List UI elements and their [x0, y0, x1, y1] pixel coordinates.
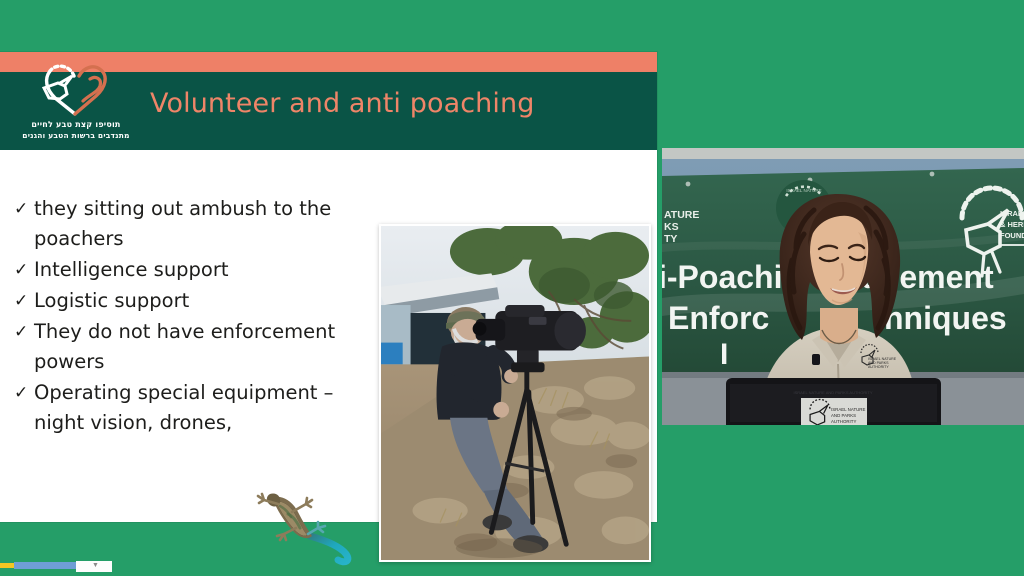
gecko-illustration [248, 490, 376, 570]
bullet-text: they sitting out ambush to the poachers [34, 194, 362, 254]
thumbnail-blue-band [14, 562, 76, 569]
slide-title: Volunteer and anti poaching [150, 88, 534, 119]
svg-text:AND PARKS: AND PARKS [831, 413, 856, 418]
svg-text:Enforc: Enforc [668, 300, 769, 336]
heart-ibex-logo-icon [34, 58, 120, 120]
chevron-down-icon[interactable]: ▼ [92, 562, 99, 569]
svg-text:ISRAEL NATURE: ISRAEL NATURE [831, 407, 865, 412]
bullet-item: ✓ they sitting out ambush to the poacher… [14, 194, 362, 254]
bullet-item: ✓ Operating special equipment – night vi… [14, 378, 362, 438]
checkmark-icon: ✓ [14, 286, 34, 316]
slide-bullet-list: ✓ they sitting out ambush to the poacher… [14, 194, 362, 439]
logo-hebrew-tagline-primary: תוסיפו קצת טבע לחיים [12, 120, 140, 129]
svg-text:i-Poachi: i-Poachi [662, 259, 782, 295]
svg-text:FOUNDATIO: FOUNDATIO [1000, 231, 1024, 240]
svg-text:KS: KS [664, 221, 679, 233]
checkmark-icon: ✓ [14, 255, 34, 285]
svg-text:ISRAEL NATU: ISRAEL NATU [1000, 209, 1024, 218]
bullet-text: They do not have enforcement powers [34, 317, 362, 377]
svg-text:hniques: hniques [884, 300, 1007, 336]
slide-panel: תוסיפו קצת טבע לחיים מתנדבים ברשות הטבע … [0, 52, 657, 522]
svg-text:ISRAEL NATURE AND PARKS AUTHOR: ISRAEL NATURE AND PARKS AUTHORITY [793, 390, 872, 395]
organization-logo: תוסיפו קצת טבע לחיים מתנדבים ברשות הטבע … [12, 58, 140, 148]
bullet-item: ✓ Logistic support [14, 286, 362, 316]
bullet-item: ✓ They do not have enforcement powers [14, 317, 362, 377]
logo-hebrew-tagline-secondary: מתנדבים ברשות הטבע והגנים [12, 131, 140, 140]
svg-text:ISRAEL NATURE: ISRAEL NATURE [786, 188, 821, 193]
volunteer-observation-photo [379, 224, 651, 562]
checkmark-icon: ✓ [14, 317, 34, 347]
svg-text:AUTHORITY: AUTHORITY [868, 365, 889, 369]
bullet-item: ✓ Intelligence support [14, 255, 362, 285]
photo-content [381, 226, 649, 560]
thumbnail-yellow-band [0, 563, 14, 568]
speaker-webcam-feed[interactable]: ISRAEL NATURE ATURE KS TY ISRAEL NATU & … [662, 148, 1024, 425]
bullet-text: Intelligence support [34, 255, 362, 285]
svg-text:AUTHORITY: AUTHORITY [831, 419, 856, 424]
svg-text:ATURE: ATURE [664, 209, 699, 221]
svg-text:TY: TY [664, 233, 677, 245]
svg-text:I: I [720, 338, 728, 371]
presentation-stage: תוסיפו קצת טבע לחיים מתנדבים ברשות הטבע … [0, 0, 1024, 576]
svg-text:& HERITAGE: & HERITAGE [1000, 220, 1024, 229]
bullet-text: Operating special equipment – night visi… [34, 378, 362, 438]
webcam-frame: ISRAEL NATURE ATURE KS TY ISRAEL NATU & … [662, 148, 1024, 425]
bullet-text: Logistic support [34, 286, 362, 316]
checkmark-icon: ✓ [14, 378, 34, 408]
checkmark-icon: ✓ [14, 194, 34, 224]
